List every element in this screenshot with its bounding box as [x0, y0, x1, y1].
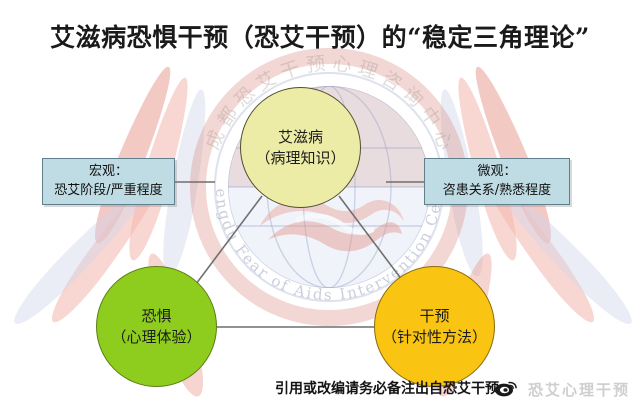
node-aids-line1: 艾滋病 [278, 127, 323, 148]
footer-attribution-note: 引用或改编请务必备注出自恐艾干预 [275, 378, 499, 398]
node-aids-line2: （病理知识） [255, 148, 345, 169]
node-fear[interactable]: 恐惧 （心理体验） [96, 266, 217, 387]
node-intervention-line1: 干预 [419, 306, 449, 327]
node-intervention-line2: （针对性方法） [382, 327, 487, 348]
annotation-micro[interactable]: 微观： 咨患关系/熟悉程度 [424, 158, 570, 205]
node-aids[interactable]: 艾滋病 （病理知识） [240, 87, 361, 208]
node-intervention[interactable]: 干预 （针对性方法） [374, 266, 495, 387]
annotation-macro[interactable]: 宏观： 恐艾阶段/严重程度 [42, 158, 175, 205]
node-fear-line1: 恐惧 [141, 306, 171, 327]
diagram-canvas: Chengdu Fear of Aids Intervention Center… [0, 0, 640, 405]
site-watermark: 恐艾心理干预 [528, 379, 630, 400]
annotation-micro-line2: 咨患关系/熟悉程度 [443, 182, 551, 201]
edge-aids-to-intervention [339, 196, 405, 284]
annotation-micro-line1: 微观： [477, 163, 516, 182]
edge-aids-to-fear [196, 196, 262, 284]
annotation-macro-line2: 恐艾阶段/严重程度 [54, 182, 162, 201]
annotation-macro-line1: 宏观： [89, 163, 128, 182]
node-fear-line2: （心理体验） [111, 327, 201, 348]
weibo-icon [494, 379, 518, 397]
